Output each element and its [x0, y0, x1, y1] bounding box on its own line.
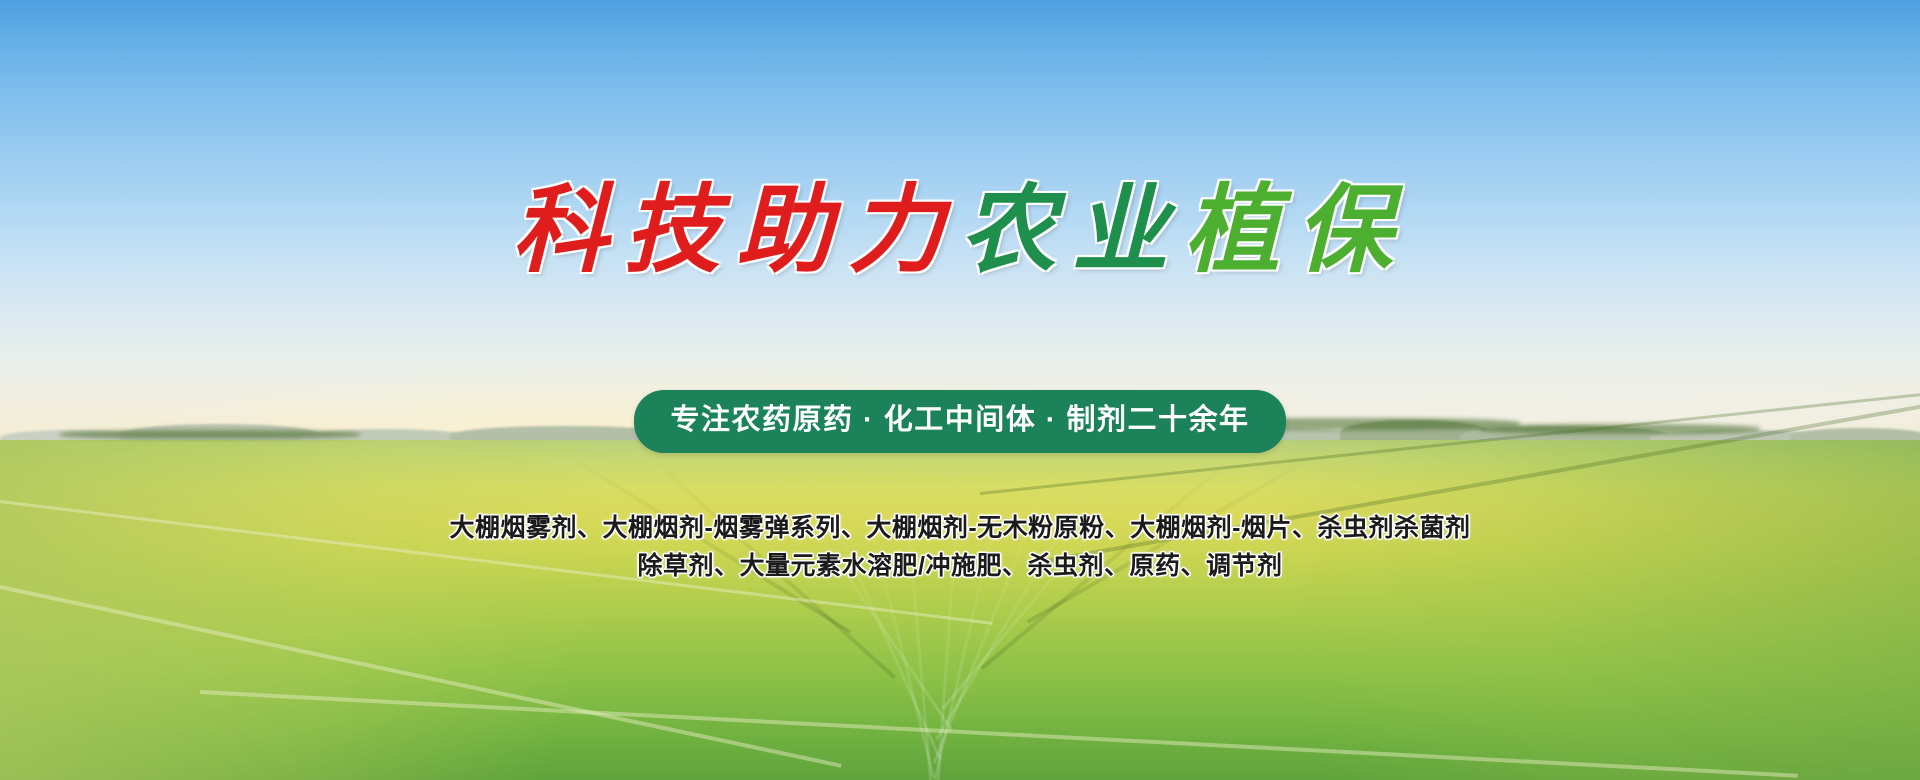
- headline-part-green: 农业: [960, 173, 1184, 286]
- product-list-line-2: 除草剂、大量元素水溶肥/冲施肥、杀虫剂、原药、调节剂: [0, 546, 1920, 582]
- badge-container: 专注农药原药 · 化工中间体 · 制剂二十余年: [0, 390, 1920, 453]
- tagline-badge: 专注农药原药 · 化工中间体 · 制剂二十余年: [634, 390, 1285, 453]
- banner-content: 科技助力农业植保 专注农药原药 · 化工中间体 · 制剂二十余年 大棚烟雾剂、大…: [0, 0, 1920, 780]
- banner-headline: 科技助力农业植保: [0, 178, 1920, 282]
- product-list-line-1: 大棚烟雾剂、大棚烟剂-烟雾弹系列、大棚烟剂-无木粉原粉、大棚烟剂-烟片、杀虫剂杀…: [0, 508, 1920, 544]
- headline-part-red: 科技助力: [512, 173, 960, 286]
- headline-part-green-light: 植保: [1184, 173, 1408, 286]
- hero-banner: 科技助力农业植保 专注农药原药 · 化工中间体 · 制剂二十余年 大棚烟雾剂、大…: [0, 0, 1920, 780]
